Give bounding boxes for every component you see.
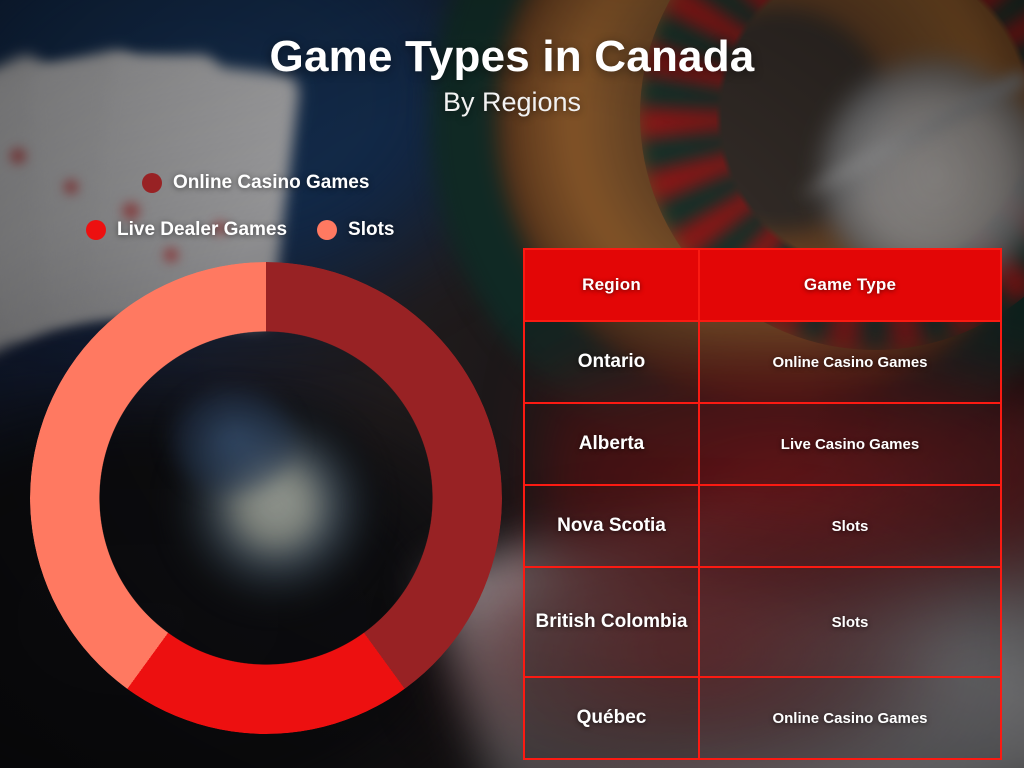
legend-dot-icon <box>317 220 337 240</box>
cell-game-type: Slots <box>699 567 1001 677</box>
table-row[interactable]: Ontario Online Casino Games <box>524 321 1001 403</box>
donut-chart <box>30 262 502 734</box>
column-header-region: Region <box>524 249 699 321</box>
cell-region: Alberta <box>524 403 699 485</box>
cell-region: Nova Scotia <box>524 485 699 567</box>
table-row[interactable]: British Colombia Slots <box>524 567 1001 677</box>
legend-item-slots[interactable]: Slots <box>317 219 394 241</box>
infographic-canvas: Game Types in Canada By Regions Online C… <box>0 0 1024 768</box>
table-row[interactable]: Alberta Live Casino Games <box>524 403 1001 485</box>
cell-game-type: Online Casino Games <box>699 321 1001 403</box>
cell-region: British Colombia <box>524 567 699 677</box>
legend-dot-icon <box>142 173 162 193</box>
cell-region: Québec <box>524 677 699 759</box>
table-row[interactable]: Québec Online Casino Games <box>524 677 1001 759</box>
legend-item-label: Slots <box>348 219 394 241</box>
legend-row-2: Live Dealer Games Slots <box>86 213 466 247</box>
table-row[interactable]: Nova Scotia Slots <box>524 485 1001 567</box>
cell-game-type: Slots <box>699 485 1001 567</box>
legend-item-label: Live Dealer Games <box>117 219 287 241</box>
table-header-row: Region Game Type <box>524 249 1001 321</box>
cell-game-type: Online Casino Games <box>699 677 1001 759</box>
donut-chart-ring[interactable] <box>30 262 502 734</box>
cell-region: Ontario <box>524 321 699 403</box>
legend-dot-icon <box>86 220 106 240</box>
column-header-game-type: Game Type <box>699 249 1001 321</box>
regions-table: Region Game Type Ontario Online Casino G… <box>523 248 1002 760</box>
cell-game-type: Live Casino Games <box>699 403 1001 485</box>
legend-item-online-casino-games[interactable]: Online Casino Games <box>142 172 369 194</box>
legend-item-label: Online Casino Games <box>173 172 369 194</box>
legend-item-live-dealer-games[interactable]: Live Dealer Games <box>86 219 287 241</box>
chart-legend: Online Casino Games Live Dealer Games Sl… <box>86 166 466 247</box>
legend-row-1: Online Casino Games <box>86 166 466 200</box>
